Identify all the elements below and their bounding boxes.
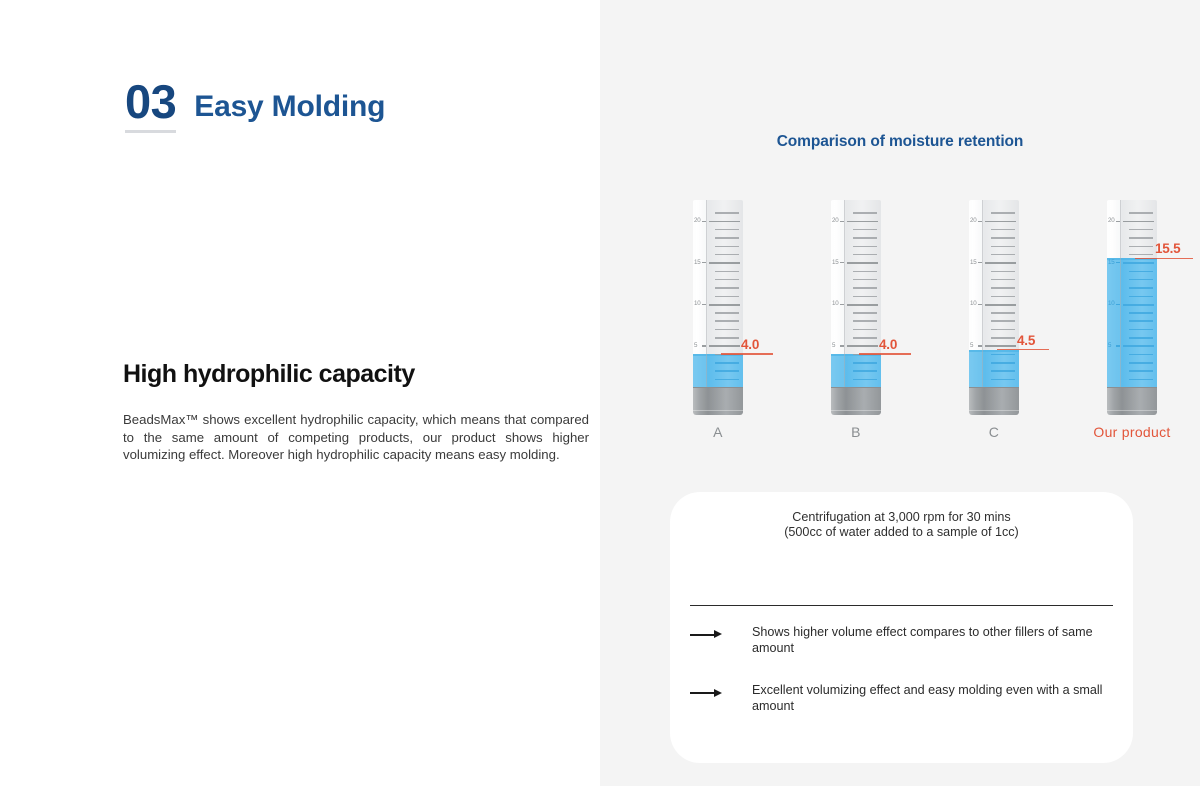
graduation-tick <box>991 279 1015 281</box>
value-leader-line <box>997 349 1049 350</box>
bullet-list: Shows higher volume effect compares to o… <box>690 624 1113 740</box>
graduation-tick <box>991 362 1015 364</box>
graduation-tick <box>991 229 1015 231</box>
graduation-tick <box>985 262 1016 264</box>
graduation-tick <box>1129 320 1153 322</box>
tube-value-label: 15.5 <box>1155 241 1180 256</box>
graduation-tick <box>1123 221 1154 223</box>
graduation-tick <box>715 362 739 364</box>
tube-scale-label: 10 <box>832 300 838 307</box>
tube-scale-label-tick <box>1116 345 1120 346</box>
tube-value-label: 4.5 <box>1017 333 1035 348</box>
graduation-tick <box>1123 304 1154 306</box>
graduation-tick <box>709 304 740 306</box>
graduation-tick <box>1129 337 1153 339</box>
chart-title: Comparison of moisture retention <box>600 133 1200 151</box>
graduation-tick <box>985 221 1016 223</box>
graduation-tick <box>853 212 877 214</box>
tube-scale-label-tick <box>1116 304 1120 305</box>
tube-scale-label: 15 <box>1108 259 1114 266</box>
tube-scale-label: 5 <box>832 342 835 349</box>
tube-cell-c: 20151054.5C <box>961 200 1027 450</box>
tube-value-label: 4.0 <box>879 337 897 352</box>
card-divider <box>690 605 1113 606</box>
graduation-tick <box>853 246 877 248</box>
value-leader-line <box>1135 258 1193 259</box>
arrow-right-icon <box>690 626 752 643</box>
value-leader-line <box>859 353 911 354</box>
tube-scale-label-tick <box>1116 262 1120 263</box>
right-panel: Comparison of moisture retention 2015105… <box>600 0 1200 786</box>
graduation-tick <box>853 287 877 289</box>
graduation-tick <box>991 212 1015 214</box>
graduation-tick <box>853 254 877 256</box>
graduation-tick <box>1129 354 1153 356</box>
graduation-tick <box>853 337 877 339</box>
test-tube: 2015105 <box>693 200 743 415</box>
tube-category-label: B <box>823 424 889 440</box>
graduation-tick <box>991 354 1015 356</box>
graduation-tick <box>1129 379 1153 381</box>
graduation-tick <box>1123 345 1154 347</box>
tube-scale-label-tick <box>702 345 706 346</box>
bullet-text: Shows higher volume effect compares to o… <box>752 624 1113 656</box>
graduation-tick <box>991 370 1015 372</box>
tube-base-cap <box>1107 387 1157 415</box>
tube-graduations <box>845 200 881 387</box>
tube-scale-label: 15 <box>832 259 838 266</box>
graduation-tick <box>715 320 739 322</box>
tube-scale-label-tick <box>840 345 844 346</box>
test-tube: 2015105 <box>1107 200 1157 415</box>
info-card: Centrifugation at 3,000 rpm for 30 mins … <box>670 492 1133 763</box>
value-leader-line <box>721 353 773 354</box>
content-heading: High hydrophilic capacity <box>123 360 589 389</box>
content-paragraph: BeadsMax™ shows excellent hydrophilic ca… <box>123 411 589 464</box>
graduation-tick <box>715 337 739 339</box>
content-block: High hydrophilic capacity BeadsMax™ show… <box>123 360 589 464</box>
tube-scale-label-tick <box>978 221 982 222</box>
graduation-tick <box>715 312 739 314</box>
tube-scale-label: 5 <box>694 342 697 349</box>
graduation-tick <box>715 379 739 381</box>
bullet-item: Excellent volumizing effect and easy mol… <box>690 682 1113 714</box>
graduation-tick <box>853 312 877 314</box>
card-caption-line-1: Centrifugation at 3,000 rpm for 30 mins <box>670 510 1133 525</box>
tube-scale-label-tick <box>840 262 844 263</box>
graduation-tick <box>991 287 1015 289</box>
tube-graduations <box>1121 200 1157 387</box>
test-tube-chart: 20151054.0A20151054.0B20151054.5C2015105… <box>685 200 1155 450</box>
graduation-tick <box>715 370 739 372</box>
tube-scale-label-tick <box>978 345 982 346</box>
graduation-tick <box>847 304 878 306</box>
graduation-tick <box>715 212 739 214</box>
graduation-tick <box>1129 279 1153 281</box>
graduation-tick <box>847 262 878 264</box>
section-number: 03 <box>125 78 176 126</box>
section-number-underline <box>125 130 176 133</box>
tube-scale-label: 5 <box>970 342 973 349</box>
graduation-tick <box>847 221 878 223</box>
graduation-tick <box>853 237 877 239</box>
tube-scale-label: 5 <box>1108 342 1111 349</box>
graduation-tick <box>1129 312 1153 314</box>
tube-scale-label: 20 <box>694 217 700 224</box>
graduation-tick <box>853 279 877 281</box>
tube-scale-label-tick <box>978 304 982 305</box>
graduation-tick <box>853 229 877 231</box>
section-number-block: 03 <box>125 78 176 133</box>
tube-scale-label-tick <box>702 221 706 222</box>
graduation-tick <box>1129 229 1153 231</box>
tube-scale-label-tick <box>702 304 706 305</box>
graduation-tick <box>715 329 739 331</box>
tube-base-cap <box>831 387 881 415</box>
graduation-tick <box>715 237 739 239</box>
tube-scale-label: 20 <box>970 217 976 224</box>
graduation-tick <box>1129 287 1153 289</box>
graduation-tick <box>715 229 739 231</box>
graduation-tick <box>853 362 877 364</box>
bullet-item: Shows higher volume effect compares to o… <box>690 624 1113 656</box>
graduation-tick <box>991 312 1015 314</box>
tube-scale-label: 10 <box>1108 300 1114 307</box>
tube-scale-label: 20 <box>832 217 838 224</box>
graduation-tick <box>985 304 1016 306</box>
tube-scale-label: 10 <box>970 300 976 307</box>
tube-category-label: C <box>961 424 1027 440</box>
graduation-tick <box>985 345 1016 347</box>
graduation-tick <box>709 262 740 264</box>
graduation-tick <box>1129 296 1153 298</box>
graduation-tick <box>853 370 877 372</box>
graduation-tick <box>991 320 1015 322</box>
graduation-tick <box>991 296 1015 298</box>
tube-cell-our-product: 201510515.5Our product <box>1099 200 1165 450</box>
graduation-tick <box>1129 370 1153 372</box>
graduation-tick <box>1129 329 1153 331</box>
graduation-tick <box>709 221 740 223</box>
tube-scale-label-tick <box>840 304 844 305</box>
card-caption-line-2: (500cc of water added to a sample of 1cc… <box>670 525 1133 540</box>
graduation-tick <box>1129 246 1153 248</box>
graduation-tick <box>991 329 1015 331</box>
tube-graduations <box>707 200 743 387</box>
graduation-tick <box>1129 254 1153 256</box>
tube-scale-label-tick <box>840 221 844 222</box>
graduation-tick <box>1123 262 1154 264</box>
graduation-tick <box>991 246 1015 248</box>
left-panel: 03 Easy Molding High hydrophilic capacit… <box>0 0 600 786</box>
tube-scale-label: 15 <box>970 259 976 266</box>
section-title: Easy Molding <box>194 92 385 133</box>
test-tube: 2015105 <box>969 200 1019 415</box>
bullet-text: Excellent volumizing effect and easy mol… <box>752 682 1113 714</box>
graduation-tick <box>1129 362 1153 364</box>
graduation-tick <box>715 246 739 248</box>
graduation-tick <box>853 379 877 381</box>
graduation-tick <box>1129 271 1153 273</box>
tube-graduations <box>983 200 1019 387</box>
tube-scale-label: 20 <box>1108 217 1114 224</box>
graduation-tick <box>853 296 877 298</box>
graduation-tick <box>1129 212 1153 214</box>
tube-base-cap <box>693 387 743 415</box>
graduation-tick <box>853 320 877 322</box>
tube-scale-label: 15 <box>694 259 700 266</box>
graduation-tick <box>991 379 1015 381</box>
test-tube: 2015105 <box>831 200 881 415</box>
graduation-tick <box>991 271 1015 273</box>
arrow-right-icon <box>690 684 752 701</box>
section-heading: 03 Easy Molding <box>125 78 385 133</box>
tube-category-label: Our product <box>1067 424 1197 440</box>
tube-value-label: 4.0 <box>741 337 759 352</box>
graduation-tick <box>709 345 740 347</box>
graduation-tick <box>715 254 739 256</box>
tube-scale-label: 10 <box>694 300 700 307</box>
tube-base-cap <box>969 387 1019 415</box>
tube-scale-label-tick <box>978 262 982 263</box>
graduation-tick <box>715 287 739 289</box>
graduation-tick <box>715 279 739 281</box>
graduation-tick <box>991 254 1015 256</box>
tube-category-label: A <box>685 424 751 440</box>
tube-scale-label-tick <box>702 262 706 263</box>
card-caption: Centrifugation at 3,000 rpm for 30 mins … <box>670 510 1133 540</box>
graduation-tick <box>847 345 878 347</box>
graduation-tick <box>853 271 877 273</box>
graduation-tick <box>715 271 739 273</box>
graduation-tick <box>991 237 1015 239</box>
graduation-tick <box>1129 237 1153 239</box>
graduation-tick <box>853 329 877 331</box>
graduation-tick <box>991 337 1015 339</box>
graduation-tick <box>715 296 739 298</box>
tube-scale-label-tick <box>1116 221 1120 222</box>
tube-cell-a: 20151054.0A <box>685 200 751 450</box>
tube-cell-b: 20151054.0B <box>823 200 889 450</box>
